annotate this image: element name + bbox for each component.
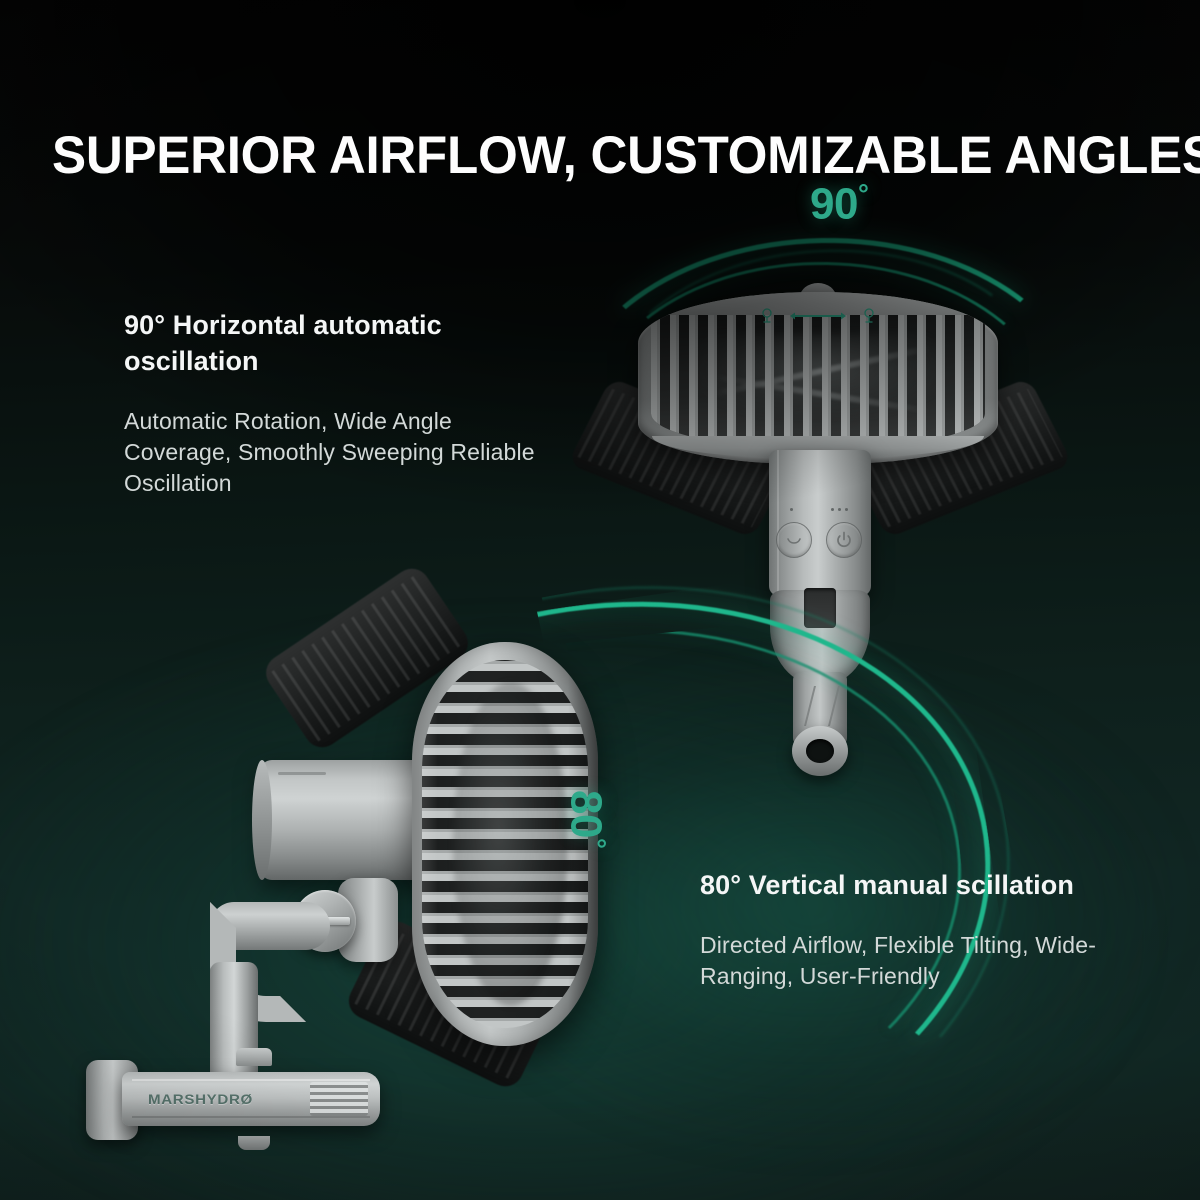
degree-symbol: ° <box>858 178 868 209</box>
angle-badge-horizontal: 90° <box>810 178 868 230</box>
angle-badge-vertical: 80° <box>560 790 612 848</box>
promo-banner: MARSHYDRØ SUPERIOR AIRFLOW, CUSTOMIZABLE… <box>0 0 1200 1200</box>
page-title: SUPERIOR AIRFLOW, CUSTOMIZABLE ANGLES <box>52 128 1133 184</box>
feature-heading: 90° Horizontal automatic oscillation <box>124 308 554 380</box>
feature-block-vertical: 80° Vertical manual scillation Directed … <box>700 868 1130 992</box>
angle-value: 80 <box>561 790 610 838</box>
feature-body: Directed Airflow, Flexible Tilting, Wide… <box>700 930 1130 993</box>
feature-heading: 80° Vertical manual scillation <box>700 868 1130 904</box>
angle-value: 90 <box>810 180 858 229</box>
degree-symbol: ° <box>581 838 612 848</box>
feature-body: Automatic Rotation, Wide Angle Coverage,… <box>124 406 554 500</box>
feature-block-horizontal: 90° Horizontal automatic oscillation Aut… <box>124 308 554 500</box>
